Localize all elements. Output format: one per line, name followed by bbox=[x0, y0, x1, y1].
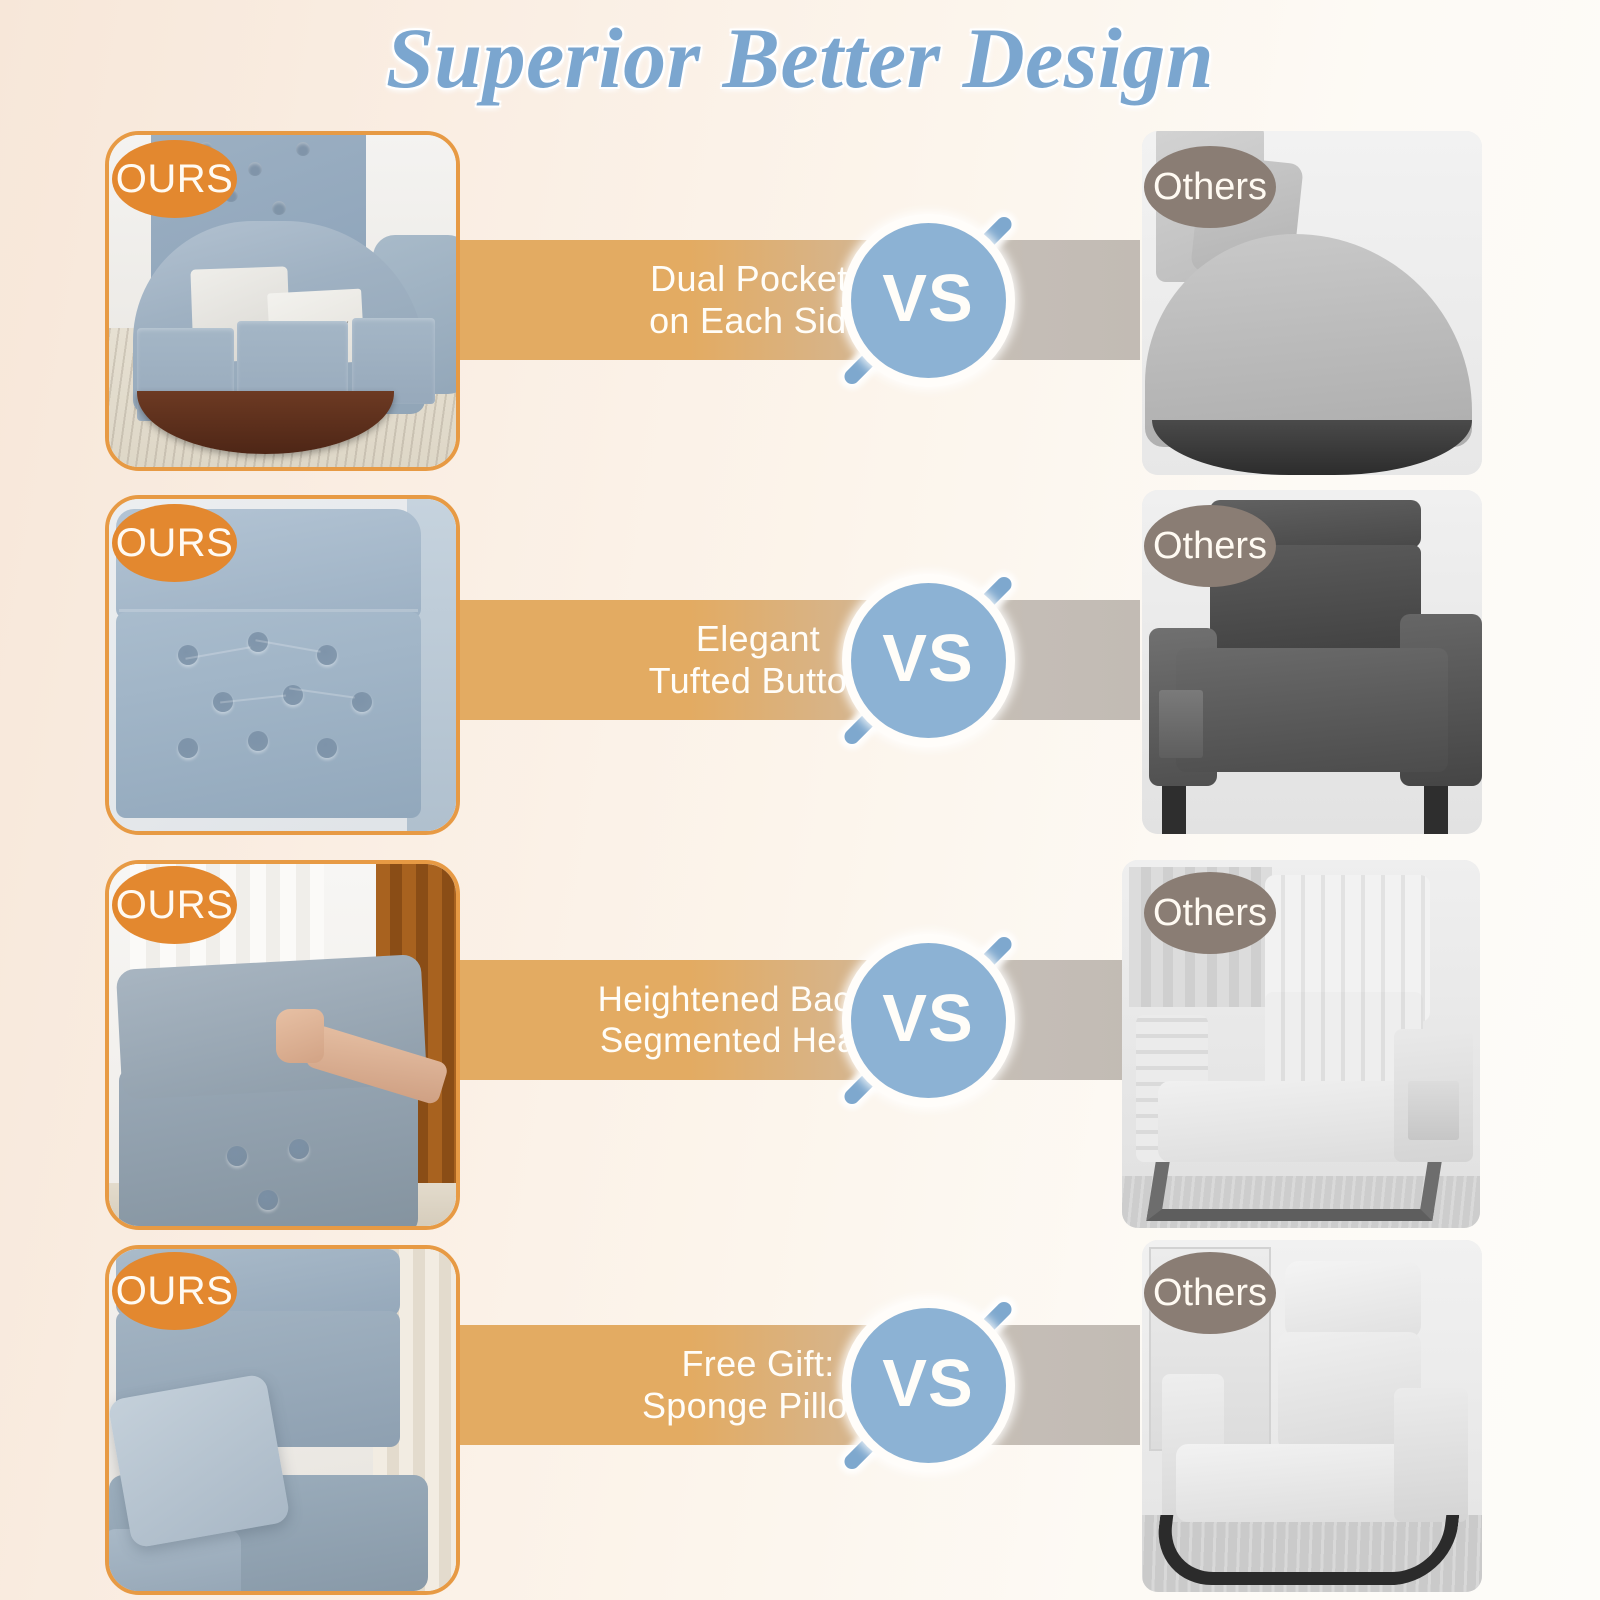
others-badge-label: Others bbox=[1153, 168, 1267, 206]
vs-label: VS bbox=[882, 625, 973, 696]
vs-label: VS bbox=[882, 1350, 973, 1421]
others-badge-label: Others bbox=[1153, 894, 1267, 932]
others-badge-label: Others bbox=[1153, 527, 1267, 565]
vs-badge: VS bbox=[803, 1260, 1053, 1510]
vs-badge: VS bbox=[803, 895, 1053, 1145]
vs-badge: VS bbox=[803, 535, 1053, 785]
ours-badge: OURS bbox=[112, 1252, 237, 1330]
others-badge: Others bbox=[1144, 872, 1276, 954]
vs-circle-icon: VS bbox=[851, 1308, 1006, 1463]
ours-badge: OURS bbox=[112, 504, 237, 582]
others-badge-label: Others bbox=[1153, 1274, 1267, 1312]
ours-badge-label: OURS bbox=[116, 159, 234, 199]
others-badge: Others bbox=[1144, 1252, 1276, 1334]
ours-badge-label: OURS bbox=[116, 523, 234, 563]
ours-badge: OURS bbox=[112, 866, 237, 944]
vs-circle-icon: VS bbox=[851, 583, 1006, 738]
others-badge: Others bbox=[1144, 505, 1276, 587]
comparison-row-free-gift-pillow: Free Gift: Sponge Pillow VS OURS bbox=[0, 0, 1600, 370]
ours-badge: OURS bbox=[112, 140, 237, 218]
others-badge: Others bbox=[1144, 146, 1276, 228]
vs-label: VS bbox=[882, 985, 973, 1056]
ours-badge-label: OURS bbox=[116, 1271, 234, 1311]
ours-badge-label: OURS bbox=[116, 885, 234, 925]
feature-line: Elegant bbox=[696, 618, 820, 660]
vs-circle-icon: VS bbox=[851, 943, 1006, 1098]
